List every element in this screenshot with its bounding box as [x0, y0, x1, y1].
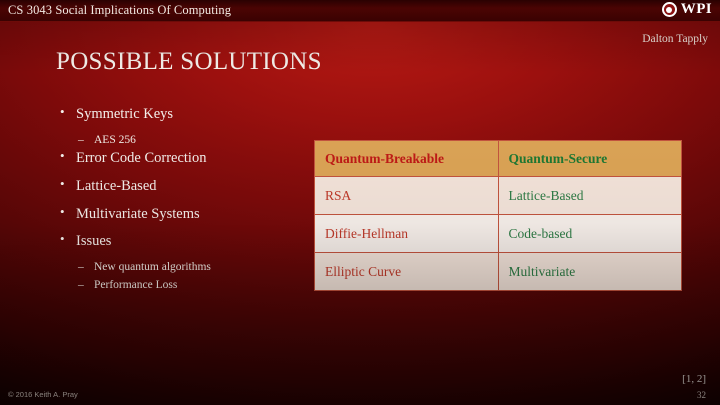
solutions-table-wrapper: Quantum-Breakable Quantum-Secure RSA Lat…	[314, 140, 682, 291]
list-item-sub: AES 256	[58, 134, 308, 148]
table-header-quantum-secure: Quantum-Secure	[498, 141, 682, 177]
list-item-sub: New quantum algorithms	[58, 261, 308, 275]
page-number: 32	[697, 390, 706, 400]
table-header-quantum-breakable: Quantum-Breakable	[315, 141, 499, 177]
table-cell-breakable: RSA	[315, 177, 499, 215]
wpi-logo-text: WPI	[681, 2, 712, 17]
list-item: Issues	[58, 233, 308, 250]
bullet-list: Symmetric Keys AES 256 Error Code Correc…	[58, 106, 308, 296]
table-cell-secure: Code-based	[498, 215, 682, 253]
table-cell-secure: Multivariate	[498, 253, 682, 291]
slide-header-bar: CS 3043 Social Implications Of Computing…	[0, 0, 720, 22]
solutions-table: Quantum-Breakable Quantum-Secure RSA Lat…	[314, 140, 682, 291]
citation-reference: [1, 2]	[682, 373, 706, 385]
table-cell-breakable: Elliptic Curve	[315, 253, 499, 291]
table-row: RSA Lattice-Based	[315, 177, 682, 215]
table-row: Elliptic Curve Multivariate	[315, 253, 682, 291]
wpi-seal-icon	[662, 2, 677, 17]
page-title: POSSIBLE SOLUTIONS	[56, 48, 322, 76]
list-item: Multivariate Systems	[58, 206, 308, 223]
list-item: Symmetric Keys	[58, 106, 308, 123]
list-item-sub: Performance Loss	[58, 279, 308, 293]
course-title: CS 3043 Social Implications Of Computing	[8, 3, 231, 18]
table-header-row: Quantum-Breakable Quantum-Secure	[315, 141, 682, 177]
table-cell-secure: Lattice-Based	[498, 177, 682, 215]
author-name: Dalton Tapply	[642, 33, 708, 45]
table-cell-breakable: Diffie-Hellman	[315, 215, 499, 253]
copyright-notice: © 2016 Keith A. Pray	[8, 390, 78, 399]
list-item: Error Code Correction	[58, 150, 308, 167]
table-row: Diffie-Hellman Code-based	[315, 215, 682, 253]
list-item: Lattice-Based	[58, 178, 308, 195]
wpi-logo: WPI	[662, 2, 712, 17]
slide: CS 3043 Social Implications Of Computing…	[0, 0, 720, 405]
